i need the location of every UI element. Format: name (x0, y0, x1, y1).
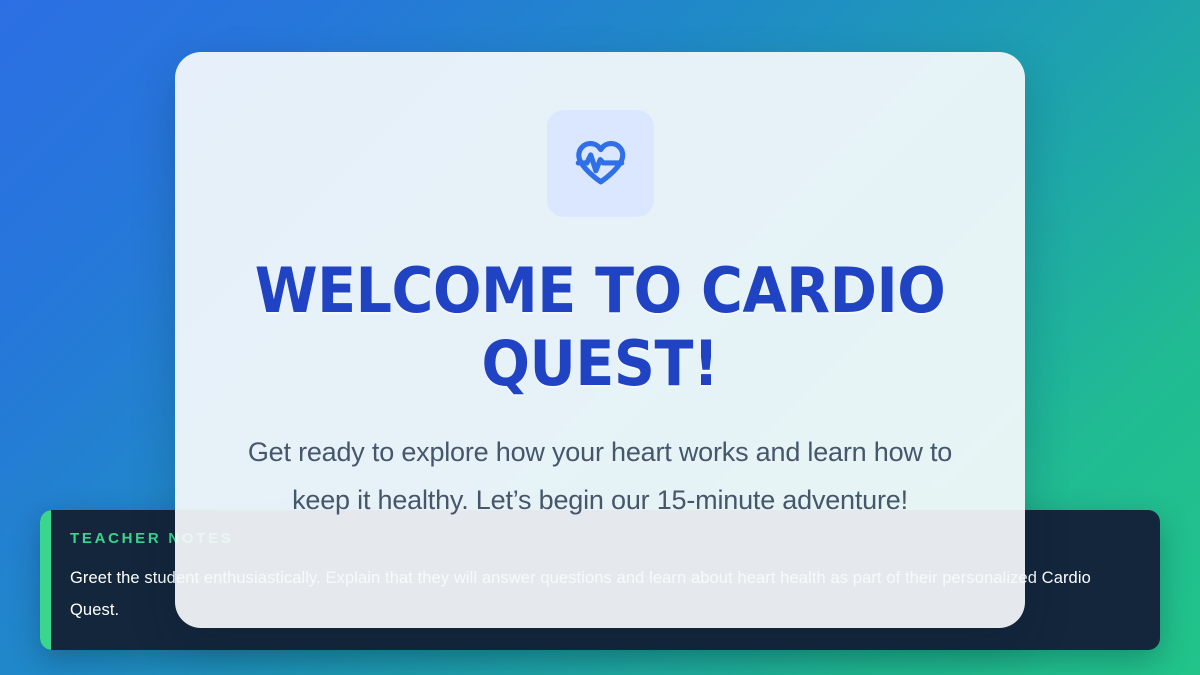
slide-canvas: TEACHER NOTES Greet the student enthusia… (0, 0, 1200, 675)
icon-tile (547, 110, 654, 217)
teacher-notes-accent-bar (40, 510, 51, 650)
card-subtitle: Get ready to explore how your heart work… (242, 428, 958, 524)
welcome-card: Welcome to Cardio Quest! Get ready to ex… (175, 52, 1025, 628)
page-title: Welcome to Cardio Quest! (250, 255, 949, 400)
heart-pulse-icon (569, 133, 631, 195)
